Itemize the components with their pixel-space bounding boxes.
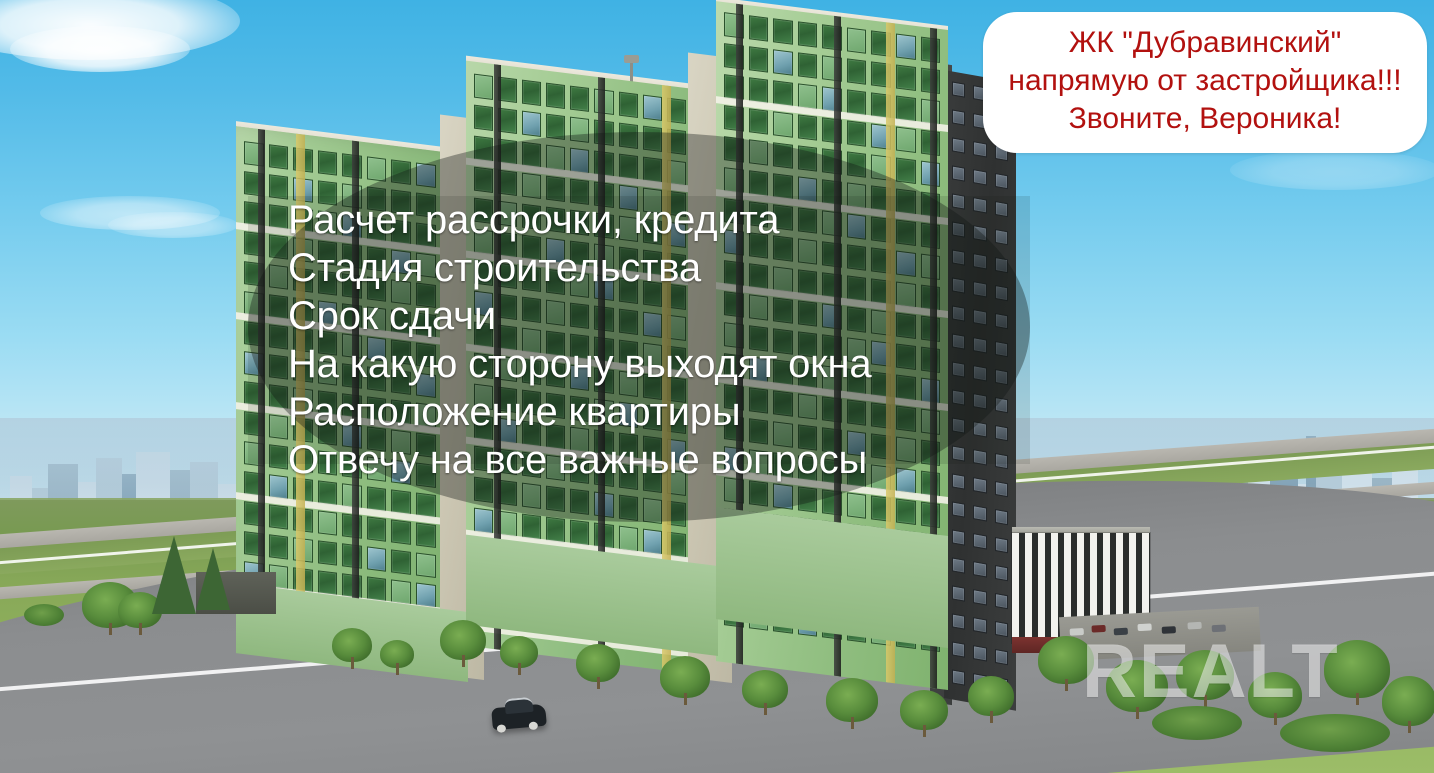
speech-bubble-line: ЖК "Дубравинский" [993, 24, 1417, 62]
tree [332, 628, 372, 662]
dark-tower-window-row [948, 557, 1012, 582]
tree [380, 640, 414, 668]
speech-bubble-line: Звоните, Вероника! [993, 100, 1417, 138]
dark-tower-window [952, 137, 965, 153]
dark-tower-window [952, 501, 965, 517]
dark-tower-window [995, 565, 1008, 581]
tree [1382, 676, 1434, 726]
facade-window [896, 158, 916, 184]
dark-tower-window [973, 505, 986, 521]
speech-bubble-line: напрямую от застройщика!!! [993, 62, 1417, 100]
facade-window [367, 546, 387, 571]
promo-text-line: На какую сторону выходят окна [288, 340, 1008, 388]
bush [1280, 714, 1390, 752]
dark-tower-window [973, 617, 986, 633]
conifer-tree [152, 536, 196, 614]
tree [440, 620, 486, 660]
promo-text-line: Расчет рассрочки, кредита [288, 196, 1008, 244]
dark-tower-window [995, 593, 1008, 609]
facade-window [318, 150, 338, 175]
tree [660, 656, 710, 698]
tree [576, 644, 620, 682]
facade-window [773, 49, 793, 75]
dark-tower-window [952, 585, 965, 601]
facade-window [643, 95, 662, 121]
dark-tower-window [952, 641, 965, 657]
facade-window [619, 92, 638, 118]
facade-window [773, 18, 793, 44]
bush [24, 604, 64, 626]
facade-window [847, 58, 867, 84]
tree [968, 676, 1014, 716]
facade-window [416, 553, 436, 578]
promo-text-line: Стадия строительства [288, 244, 1008, 292]
dark-tower-window [995, 509, 1008, 525]
facade-window [749, 108, 769, 134]
facade-window [749, 46, 769, 72]
dark-tower-window [952, 165, 965, 181]
dark-tower-window [973, 533, 986, 549]
dark-tower-window [973, 589, 986, 605]
conifer-tree [196, 548, 230, 610]
facade-window [391, 519, 411, 544]
facade-window [522, 111, 541, 137]
dark-tower-window-row [948, 165, 1012, 190]
dark-tower-window-row [948, 529, 1012, 554]
dark-tower-window [973, 561, 986, 577]
facade-window [798, 52, 818, 78]
dark-tower-window [952, 109, 965, 125]
promo-text-line: Отвечу на все важные вопросы [288, 436, 1008, 484]
facade-window [269, 144, 289, 169]
dark-tower-window [973, 645, 986, 661]
dark-tower-window [995, 537, 1008, 553]
tree [742, 670, 788, 708]
promo-text-line: Срок сдачи [288, 292, 1008, 340]
facade-window [318, 510, 338, 535]
facade-window [896, 34, 916, 60]
dark-tower-window [952, 557, 965, 573]
facade-window [367, 516, 387, 541]
promo-text-overlay: Расчет рассрочки, кредита Стадия строите… [288, 196, 1008, 484]
facade-window [416, 523, 436, 548]
facade-window [896, 127, 916, 153]
facade-window [391, 549, 411, 574]
facade-window [474, 74, 493, 100]
facade-window [847, 492, 867, 518]
facade-window [570, 86, 589, 112]
dark-tower-window [973, 141, 986, 157]
facade-window [749, 15, 769, 41]
facade-window [546, 83, 565, 109]
facade-window [269, 534, 289, 559]
facade-window [896, 499, 916, 525]
dark-tower-window [973, 169, 986, 185]
tree [500, 636, 538, 668]
tree [900, 690, 948, 730]
facade-window [847, 120, 867, 146]
dark-tower-window-row [948, 613, 1012, 638]
facade-window [798, 114, 818, 140]
realt-watermark: REALT [1082, 628, 1340, 715]
dark-tower-window [952, 613, 965, 629]
dark-tower-window [995, 173, 1008, 189]
speech-bubble: ЖК "Дубравинский" напрямую от застройщик… [983, 12, 1427, 153]
promo-text-line: Расположение квартиры [288, 388, 1008, 436]
facade-window [798, 21, 818, 47]
facade-window [847, 27, 867, 53]
dark-tower-window [952, 529, 965, 545]
dark-tower-window [952, 669, 965, 685]
facade-window [474, 105, 493, 131]
dark-tower-window [995, 649, 1008, 665]
dark-tower-window-row [948, 501, 1012, 526]
car [491, 704, 547, 731]
dark-tower-window-row [948, 585, 1012, 610]
dark-tower-window [952, 81, 965, 97]
advertisement-image: Расчет рассрочки, кредита Стадия строите… [0, 0, 1434, 773]
facade-window [773, 111, 793, 137]
facade-window [896, 65, 916, 91]
facade-window [522, 80, 541, 106]
facade-window [318, 540, 338, 565]
facade-window [269, 504, 289, 529]
dark-tower-window-row [948, 641, 1012, 666]
tree [826, 678, 878, 722]
dark-tower-window [995, 621, 1008, 637]
